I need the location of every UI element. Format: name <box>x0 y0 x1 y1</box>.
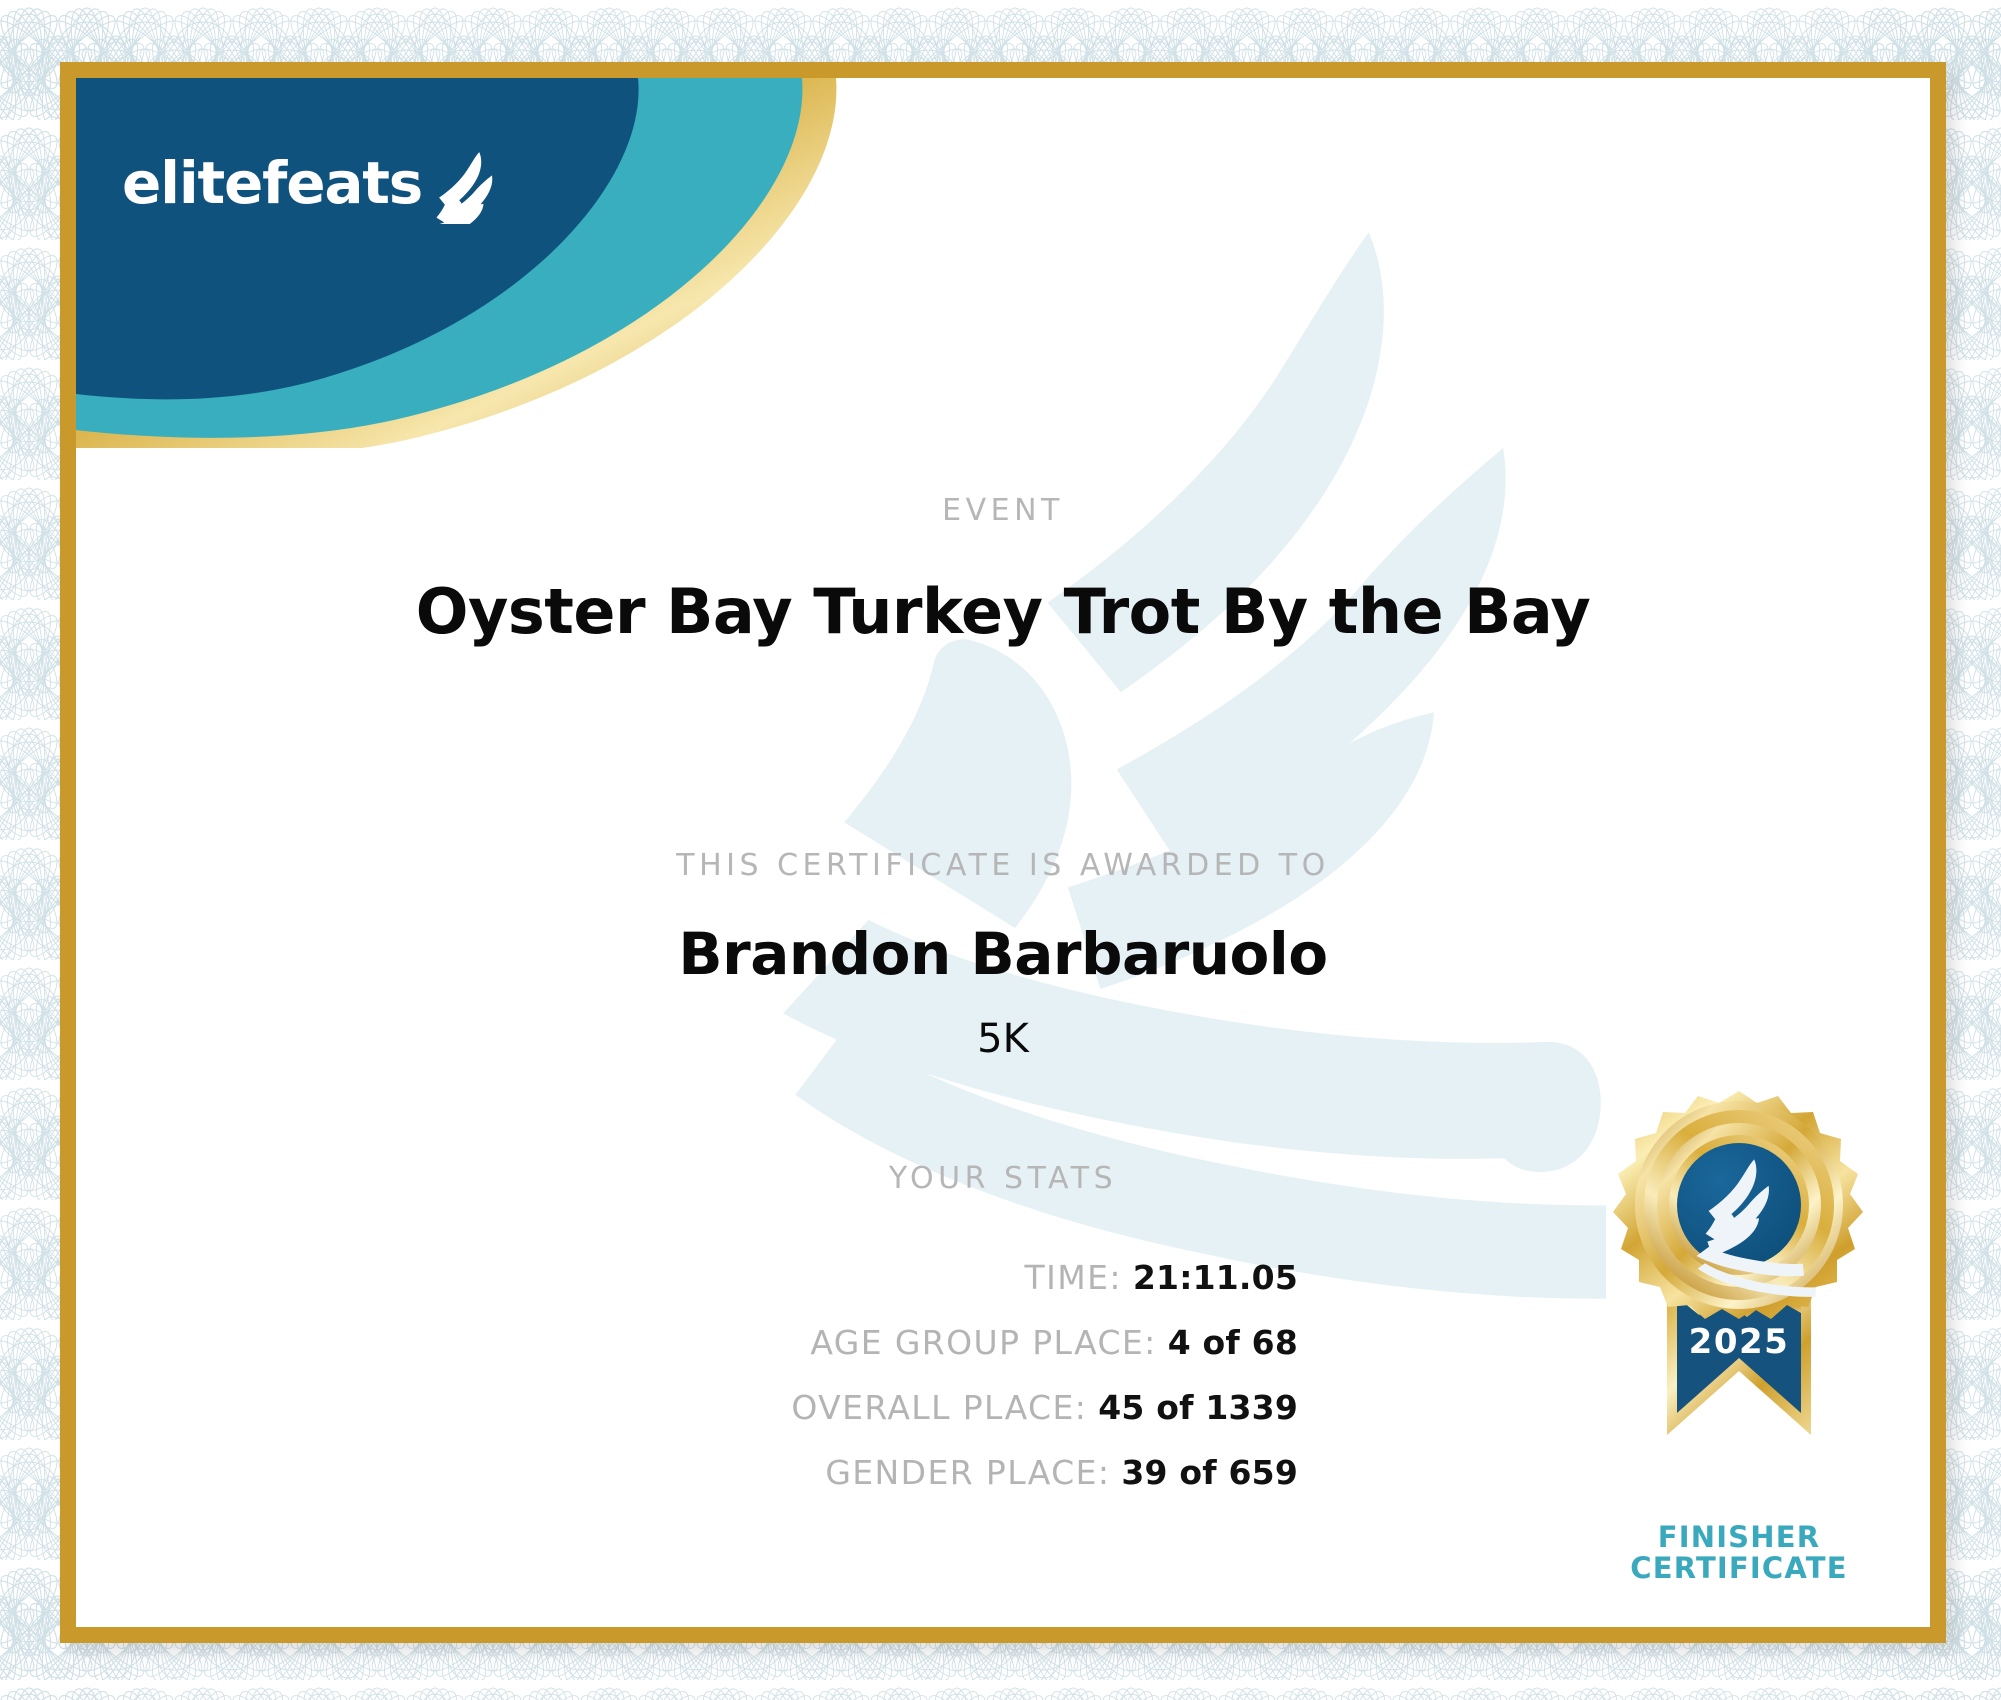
stat-value: 4 of 68 <box>1168 1323 1298 1362</box>
stat-label: AGE GROUP PLACE: <box>810 1323 1156 1362</box>
certificate-gold-frame: elitefeats EVENT Oyster Bay Turkey Trot … <box>60 62 1946 1643</box>
stat-value: 21:11.05 <box>1133 1258 1298 1297</box>
awarded-to-label: THIS CERTIFICATE IS AWARDED TO <box>253 848 1753 883</box>
stat-row-gender-place: GENDER PLACE: 39 of 659 <box>76 1453 1298 1492</box>
stat-label: TIME: <box>1025 1258 1122 1297</box>
stat-label: OVERALL PLACE: <box>791 1388 1087 1427</box>
seal-caption-line-1: FINISHER <box>1574 1522 1904 1553</box>
seal-year: 2025 <box>1689 1322 1790 1362</box>
stats-list: TIME: 21:11.05 AGE GROUP PLACE: 4 of 68 … <box>76 1258 1298 1492</box>
race-distance: 5K <box>403 1016 1603 1062</box>
stat-row-age-group-place: AGE GROUP PLACE: 4 of 68 <box>76 1323 1298 1362</box>
stat-row-time: TIME: 21:11.05 <box>76 1258 1298 1297</box>
recipient-name: Brandon Barbaruolo <box>253 920 1753 988</box>
event-kicker-label: EVENT <box>303 493 1703 528</box>
stats-section-label: YOUR STATS <box>403 1161 1603 1196</box>
stat-row-overall-place: OVERALL PLACE: 45 of 1339 <box>76 1388 1298 1427</box>
stat-value: 39 of 659 <box>1121 1453 1298 1492</box>
stat-value: 45 of 1339 <box>1098 1388 1298 1427</box>
stat-label: GENDER PLACE: <box>825 1453 1110 1492</box>
certificate-body: EVENT Oyster Bay Turkey Trot By the Bay … <box>76 78 1930 1627</box>
certificate-paper: elitefeats EVENT Oyster Bay Turkey Trot … <box>76 78 1930 1627</box>
seal-caption-line-2: CERTIFICATE <box>1574 1553 1904 1584</box>
gold-medal-rosette-icon: 2025 <box>1589 1083 1889 1513</box>
event-title: Oyster Bay Turkey Trot By the Bay <box>153 575 1853 648</box>
finisher-seal: 2025 FINISHER CERTIFICATE <box>1574 1083 1904 1585</box>
seal-caption: FINISHER CERTIFICATE <box>1574 1522 1904 1585</box>
